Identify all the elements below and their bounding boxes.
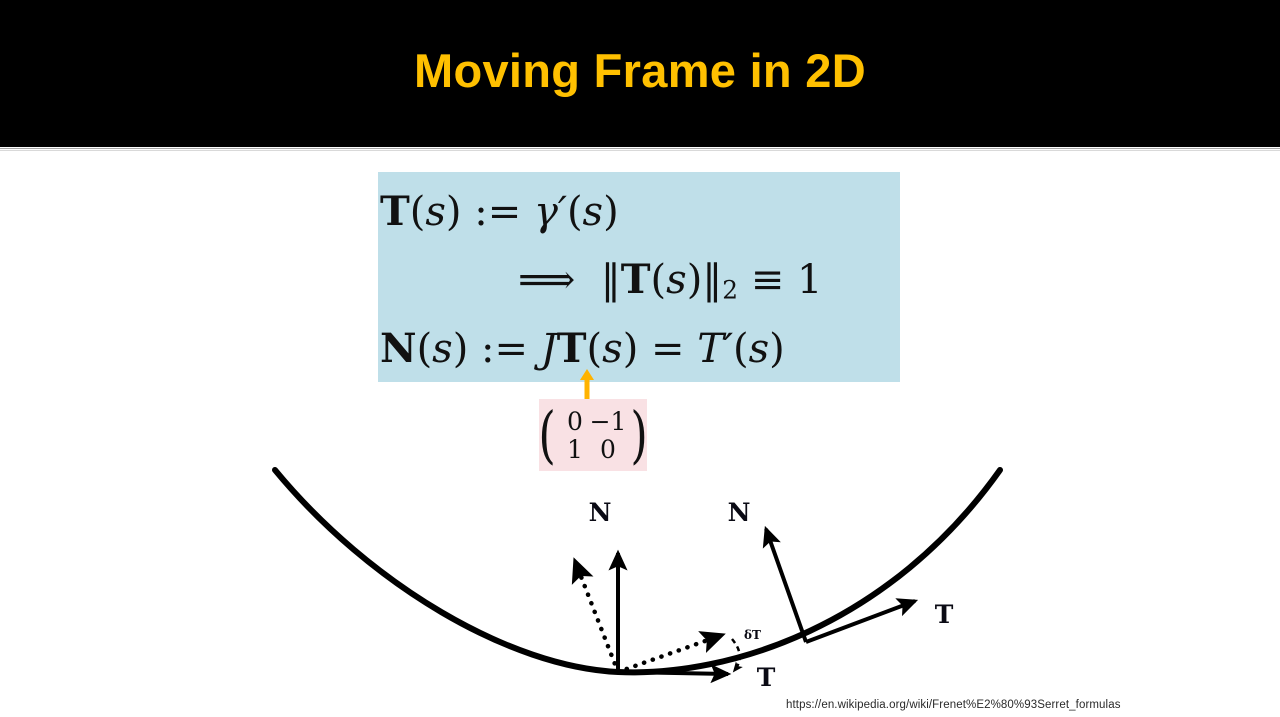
tangent-vector-left xyxy=(618,672,728,674)
definition-operator: := xyxy=(462,189,534,235)
norm-value: 1 xyxy=(797,257,822,303)
gamma-prime: ′ xyxy=(558,189,567,235)
tangent-arg-close: ) xyxy=(769,326,785,372)
normal-vector-right xyxy=(766,529,806,642)
formula-block: T(s) := γ′(s) ⟹ ‖T(s)‖2 ≡ 1 N(s) := JT(s… xyxy=(378,172,900,382)
curve-path xyxy=(275,470,1000,672)
norm-close: ‖ xyxy=(702,257,722,303)
formula-line-normal-definition: N(s) := JT(s) = T′(s) xyxy=(380,329,785,369)
tangent-arg-open: ( xyxy=(733,326,749,372)
frenet-frame-diagram: N N T T δT xyxy=(250,455,1030,700)
gamma-arg-close: ) xyxy=(603,189,619,235)
label-tangent-right: T xyxy=(935,600,954,629)
tangent-arg-close: ) xyxy=(623,326,639,372)
tangent-arg-open: ( xyxy=(587,326,603,372)
tangent-arg: s xyxy=(666,257,687,303)
label-delta-tangent: δT xyxy=(744,628,761,642)
equals-operator: = xyxy=(638,326,697,372)
gamma-arg: s xyxy=(583,189,604,235)
normal-vector-left-dotted xyxy=(575,561,618,672)
source-url-text: https://en.wikipedia.org/wiki/Frenet%E2%… xyxy=(786,699,1121,711)
matrix-right-paren: ) xyxy=(630,416,647,454)
identical-operator: ≡ xyxy=(738,257,797,303)
tangent-arg-open: ( xyxy=(410,189,426,235)
tangent-arg-close: ) xyxy=(687,257,703,303)
tangent-arg: s xyxy=(425,189,446,235)
up-arrow-icon xyxy=(578,369,596,403)
formula-line-tangent-definition: T(s) := γ′(s) xyxy=(380,192,619,232)
tangent-arg: s xyxy=(749,326,770,372)
tangent-vector-right xyxy=(806,601,915,642)
label-tangent-left: T xyxy=(757,663,776,692)
tangent-arg: s xyxy=(602,326,623,372)
definition-operator: := xyxy=(468,326,540,372)
tangent-italic-symbol: T xyxy=(697,326,724,372)
matrix-left-paren: ( xyxy=(538,416,555,454)
norm-open: ‖ xyxy=(601,257,621,303)
norm-subscript: 2 xyxy=(722,275,738,304)
formula-line-unit-speed: ⟹ ‖T(s)‖2 ≡ 1 xyxy=(518,260,822,303)
tangent-symbol: T xyxy=(380,188,410,235)
matrix-cell-r0c1: −1 xyxy=(590,407,627,436)
page-title: Moving Frame in 2D xyxy=(0,0,1280,147)
tangent-arg-close: ) xyxy=(446,189,462,235)
title-divider xyxy=(0,148,1280,152)
normal-symbol: N xyxy=(380,325,417,372)
rotation-matrix-symbol: J xyxy=(541,326,557,372)
matrix-cell-r0c0: 0 xyxy=(567,407,583,436)
label-normal-left: N xyxy=(589,498,612,527)
normal-arg: s xyxy=(432,326,453,372)
normal-arg-close: ) xyxy=(453,326,469,372)
tangent-symbol: T xyxy=(621,256,651,303)
normal-arg-open: ( xyxy=(417,326,433,372)
gamma-arg-open: ( xyxy=(567,189,583,235)
tangent-arg-open: ( xyxy=(651,257,667,303)
tangent-symbol: T xyxy=(557,325,587,372)
gamma-symbol: γ xyxy=(534,189,558,235)
label-normal-right: N xyxy=(728,498,751,527)
tangent-prime: ′ xyxy=(724,326,733,372)
implies-symbol: ⟹ xyxy=(518,257,575,303)
